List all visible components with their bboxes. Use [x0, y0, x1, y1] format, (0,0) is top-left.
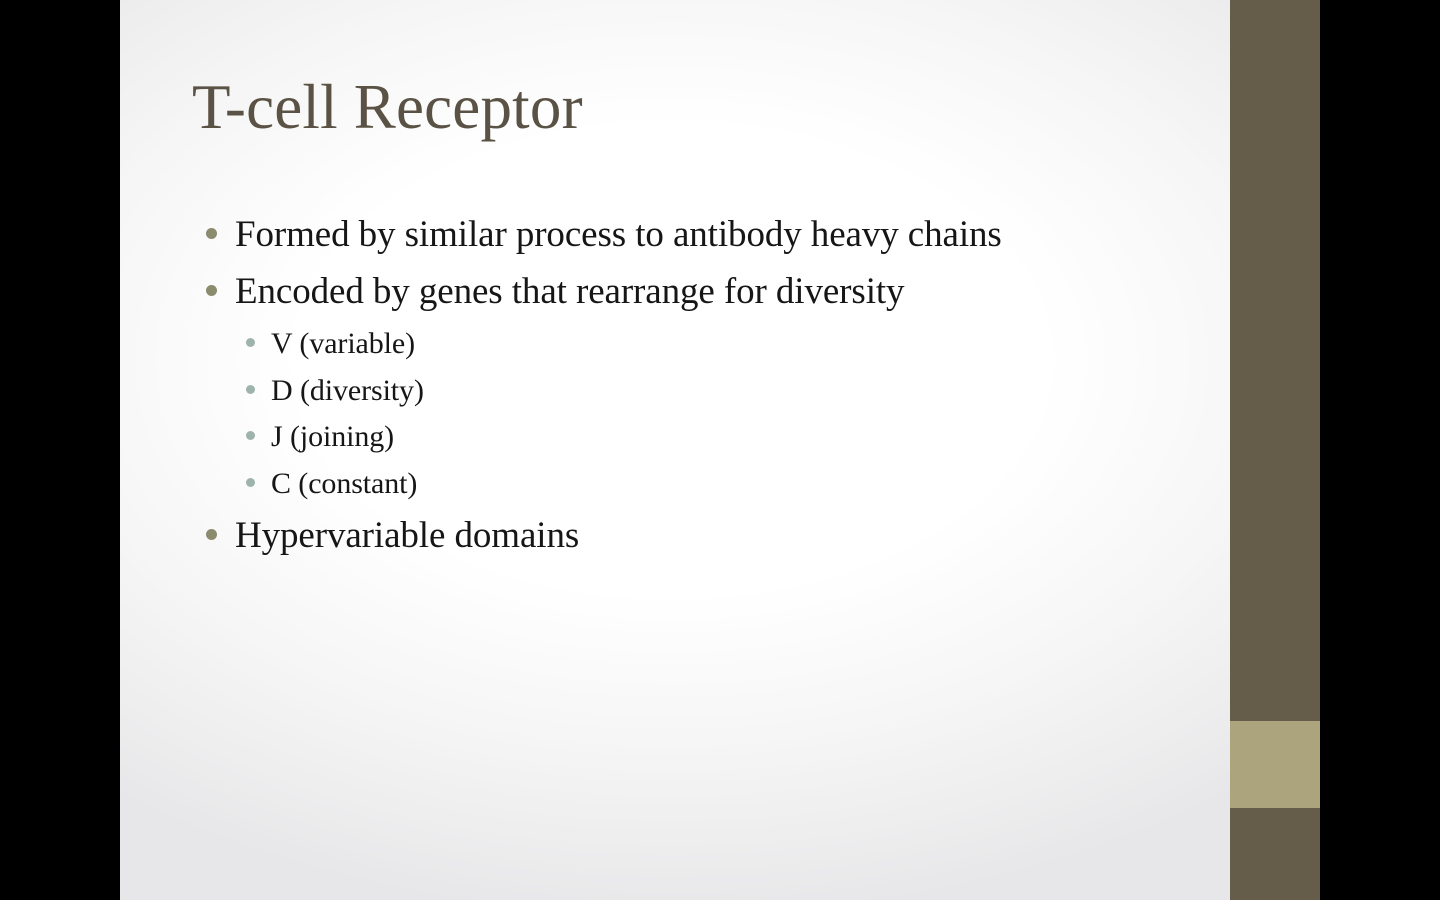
sub-list-item-label: V (variable) — [271, 326, 415, 363]
list-item: Hypervariable domains — [192, 513, 1272, 558]
round-bullet-icon — [206, 529, 217, 540]
round-bullet-small-icon — [246, 431, 255, 440]
slide-canvas[interactable]: T-cell Receptor Formed by similar proces… — [120, 0, 1320, 900]
round-bullet-small-icon — [246, 385, 255, 394]
letterbox-left — [0, 0, 120, 900]
sub-list-item-label: J (joining) — [271, 419, 394, 456]
decorative-accent-block — [1230, 721, 1320, 808]
list-item: Formed by similar process to antibody he… — [192, 212, 1272, 257]
sub-list-item: V (variable) — [192, 326, 1272, 363]
slide-body-list: Formed by similar process to antibody he… — [192, 212, 1272, 570]
round-bullet-icon — [206, 285, 217, 296]
list-item-label: Encoded by genes that rearrange for dive… — [235, 269, 904, 314]
list-item: Encoded by genes that rearrange for dive… — [192, 269, 1272, 314]
page-title: T-cell Receptor — [192, 72, 1192, 143]
round-bullet-small-icon — [246, 478, 255, 487]
letterbox-right — [1320, 0, 1440, 900]
presentation-screen: T-cell Receptor Formed by similar proces… — [0, 0, 1440, 900]
list-item-label: Formed by similar process to antibody he… — [235, 212, 1002, 257]
sub-list-item-label: C (constant) — [271, 466, 417, 503]
sub-list-item-label: D (diversity) — [271, 373, 424, 410]
sub-list-item: J (joining) — [192, 419, 1272, 456]
round-bullet-icon — [206, 228, 217, 239]
list-item-label: Hypervariable domains — [235, 513, 579, 558]
sub-list-item: D (diversity) — [192, 373, 1272, 410]
round-bullet-small-icon — [246, 338, 255, 347]
sub-list-item: C (constant) — [192, 466, 1272, 503]
